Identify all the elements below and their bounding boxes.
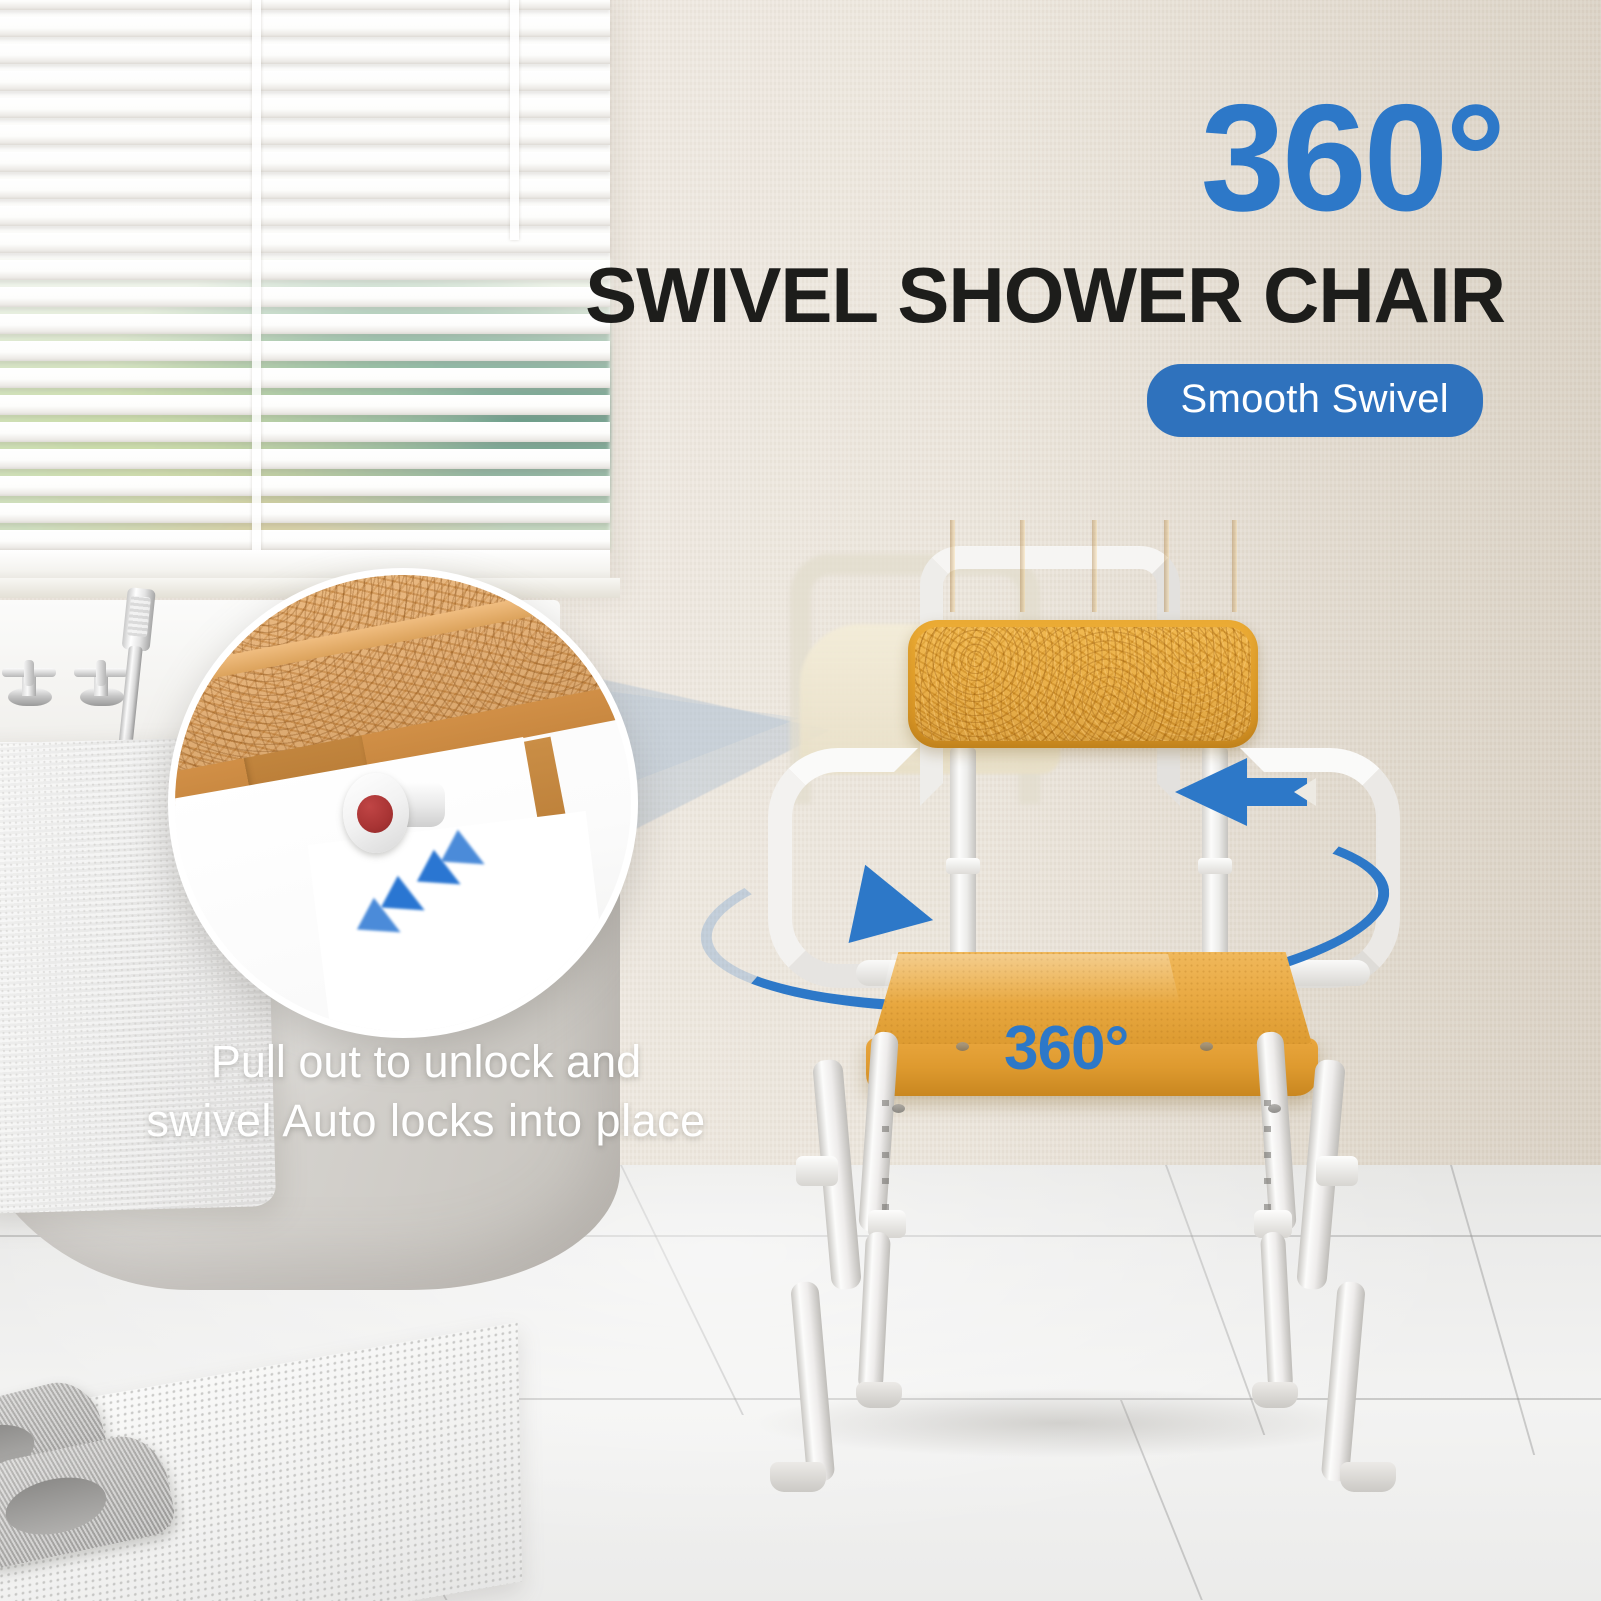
blind-slat — [0, 476, 610, 496]
pull-pin-icon[interactable] — [343, 773, 417, 853]
shower-chair: 360° — [760, 520, 1440, 1460]
seat-groove — [1164, 520, 1169, 612]
caption-line-1: Pull out to unlock and — [96, 1032, 756, 1091]
leg-foot — [856, 1382, 902, 1408]
leg-front-left-lower — [790, 1281, 835, 1483]
leg-collar — [1316, 1156, 1358, 1186]
seat-groove — [950, 520, 955, 612]
leg-back-left-lower — [858, 1231, 891, 1392]
blind-cord[interactable] — [510, 0, 519, 240]
blind-slat — [0, 314, 610, 334]
seat-groove — [1020, 520, 1025, 612]
magnifier-circle — [168, 568, 638, 1038]
window — [0, 0, 610, 590]
blind-slat — [0, 530, 610, 550]
caption-line-2: swivel Auto locks into place — [96, 1091, 756, 1150]
frame-screw — [956, 1042, 969, 1051]
blind-slat — [0, 449, 610, 469]
blind-slat — [0, 503, 610, 523]
scene-root: 360° 360° SWIVEL SHOWER CHAIR Smooth Swi… — [0, 0, 1601, 1601]
headline-degree: 360° — [1201, 82, 1503, 234]
blind-cord[interactable] — [252, 0, 261, 550]
blind-slat — [0, 422, 610, 442]
blind-slat — [0, 260, 610, 280]
leg-foot — [1252, 1382, 1298, 1408]
arrow-left-icon — [1175, 758, 1247, 826]
leg-foot — [770, 1462, 826, 1492]
status-badge: Smooth Swivel — [1147, 364, 1483, 437]
leg-back-right-lower — [1260, 1231, 1293, 1392]
leg-screw — [1268, 1104, 1281, 1113]
seat-360-label: 360° — [1004, 1018, 1128, 1080]
seat-groove — [1232, 520, 1237, 612]
blind-slat — [0, 395, 610, 415]
rotation-arrow-icon — [849, 865, 942, 959]
leg-screw — [892, 1104, 905, 1113]
seat-groove — [1092, 520, 1097, 612]
backrest-pad — [908, 620, 1258, 748]
page-title: SWIVEL SHOWER CHAIR — [585, 256, 1505, 334]
leg-foot — [1340, 1462, 1396, 1492]
feature-caption: Pull out to unlock and swivel Auto locks… — [96, 1032, 756, 1151]
pull-pin-red-center — [357, 795, 393, 833]
frame-screw — [1200, 1042, 1213, 1051]
backrest-texture — [915, 627, 1251, 741]
leg-collar — [796, 1156, 838, 1186]
arrow-notch — [1294, 778, 1316, 806]
seat-highlight — [880, 954, 1180, 1004]
leg-front-right-lower — [1321, 1281, 1366, 1483]
leg-back-left — [858, 1031, 899, 1232]
blind-slat — [0, 341, 610, 361]
tub-faucet-handle[interactable] — [0, 660, 58, 710]
blind-slat — [0, 368, 610, 388]
blind-slat — [0, 287, 610, 307]
